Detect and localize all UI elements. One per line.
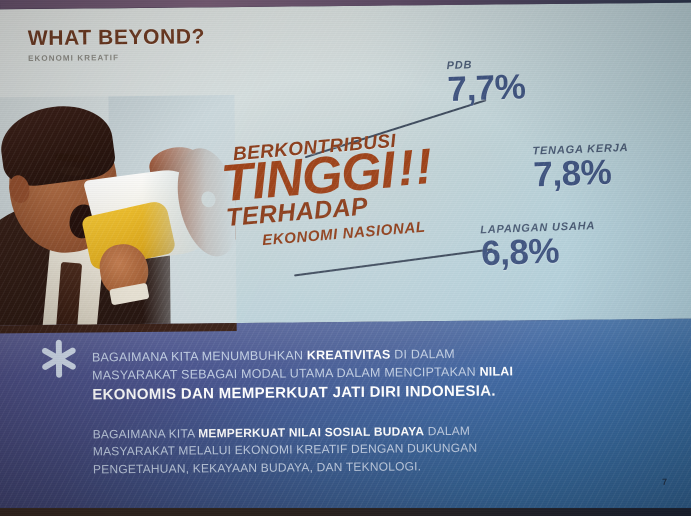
- slide-body: WHAT BEYOND? EKONOMI KREATIF: [0, 3, 691, 516]
- stat-pdb: PDB 7,7%: [446, 57, 525, 107]
- screen-bottom-edge: [0, 508, 691, 516]
- title-block: WHAT BEYOND? EKONOMI KREATIF: [28, 25, 205, 63]
- projected-slide-photo: WHAT BEYOND? EKONOMI KREATIF: [0, 0, 691, 516]
- stat-lapangan-usaha-value: 6,8%: [480, 232, 596, 271]
- p1-l1-b: KREATIVITAS: [307, 348, 391, 363]
- p1-l2-b: NILAI: [479, 364, 513, 378]
- stat-tenaga-kerja-value: 7,8%: [533, 154, 630, 193]
- paragraph-creativity: BAGAIMANA KITA MENUMBUHKAN KREATIVITAS D…: [92, 344, 514, 406]
- p1-l2-a: MASYARAKAT SEBAGAI MODAL UTAMA DALAM MEN…: [92, 365, 480, 383]
- asterisk-icon: [39, 339, 79, 379]
- stat-lapangan-usaha: LAPANGAN USAHA 6,8%: [480, 220, 597, 271]
- p1-l1-a: BAGAIMANA KITA MENUMBUHKAN: [92, 348, 307, 364]
- stat-pdb-value: 7,7%: [447, 69, 526, 107]
- paragraph1-line3: EKONOMIS DAN MEMPERKUAT JATI DIRI INDONE…: [92, 380, 513, 406]
- p2-l1-b: MEMPERKUAT NILAI SOSIAL BUDAYA: [198, 424, 424, 440]
- p1-l1-c: DI DALAM: [390, 347, 454, 362]
- megaphone-photo: [0, 95, 237, 325]
- page-title: WHAT BEYOND?: [28, 25, 205, 51]
- page-number: 7: [662, 477, 667, 487]
- photo-edge-fade: [0, 95, 237, 325]
- stat-tenaga-kerja: TENAGA KERJA 7,8%: [532, 142, 630, 193]
- paragraph2-line3: PENGETAHUAN, KEKAYAAN BUDAYA, DAN TEKNOL…: [93, 457, 478, 478]
- p2-l1-c: DALAM: [424, 424, 470, 438]
- paragraph-social-culture: BAGAIMANA KITA MEMPERKUAT NILAI SOSIAL B…: [93, 423, 478, 478]
- page-subtitle: EKONOMI KREATIF: [28, 52, 205, 63]
- headline-exclamation: !!: [396, 143, 435, 193]
- p2-l1-a: BAGAIMANA KITA: [93, 426, 199, 441]
